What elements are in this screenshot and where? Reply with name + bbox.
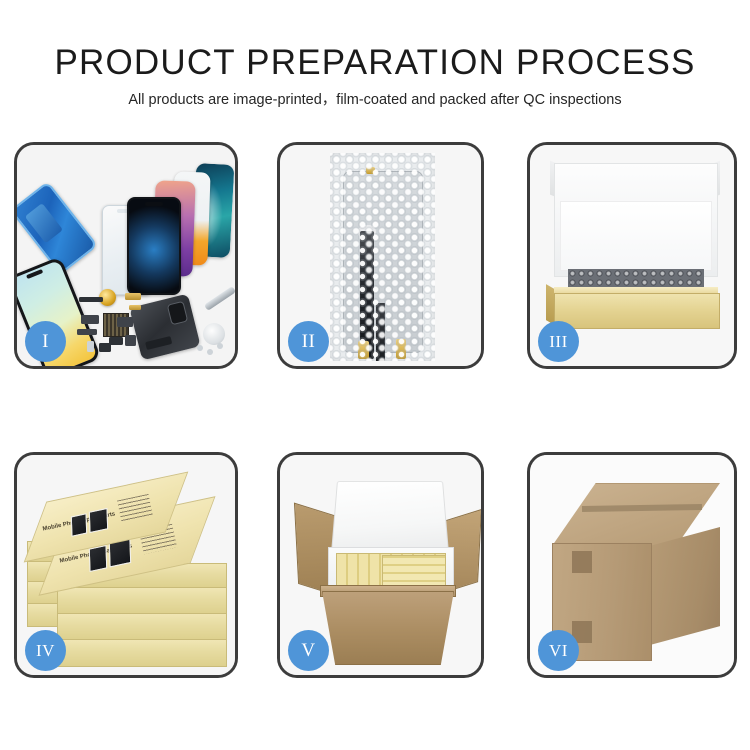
stacked-box [57, 587, 227, 615]
spare-part [77, 329, 97, 335]
step-badge-4: IV [25, 630, 66, 671]
stacked-box [57, 613, 227, 641]
kraft-inner-box [554, 293, 720, 329]
box-label-screen-image [89, 508, 108, 533]
spare-part [117, 317, 133, 327]
foam-liner-lid [331, 481, 450, 557]
spare-part [217, 343, 223, 349]
spare-part [81, 315, 99, 324]
repair-tool-blur [203, 323, 225, 345]
carton-body [322, 591, 454, 665]
carton-tape-patch [572, 551, 592, 573]
repair-tweezers [204, 286, 236, 311]
carton-side-face [650, 527, 720, 645]
step-badge-2: II [288, 321, 329, 362]
spare-part [87, 341, 94, 352]
step-badge-3: III [538, 321, 579, 362]
process-step-2: II [277, 142, 484, 369]
spare-part [99, 343, 111, 352]
process-step-6: VI [527, 452, 737, 678]
spare-part [207, 349, 213, 355]
box-label-screen-image [71, 513, 87, 537]
yellow-boxes-row [382, 555, 446, 589]
dark-screen-phone [127, 197, 181, 295]
white-foam-sheet [560, 201, 712, 271]
bubble-wrap-bag [330, 153, 435, 361]
process-step-3: III [527, 142, 737, 369]
process-step-5: V [277, 452, 484, 678]
bubble-texture [330, 153, 435, 361]
process-step-grid: I II III [0, 0, 750, 750]
step-badge-6: VI [538, 630, 579, 671]
stacked-box [57, 639, 227, 667]
spare-part [129, 305, 141, 310]
process-step-1: I [14, 142, 238, 369]
process-step-4: Mobile Phone Spare Parts Mobile Phone Sp… [14, 452, 238, 678]
box-label-screen-image [89, 545, 107, 572]
step-badge-1: I [25, 321, 66, 362]
phone-back-chassis [129, 294, 200, 361]
spare-part [125, 335, 136, 346]
spare-part [125, 293, 141, 300]
spare-part [197, 345, 203, 351]
step-badge-5: V [288, 630, 329, 671]
spare-part [79, 297, 103, 302]
spare-part [109, 337, 123, 345]
